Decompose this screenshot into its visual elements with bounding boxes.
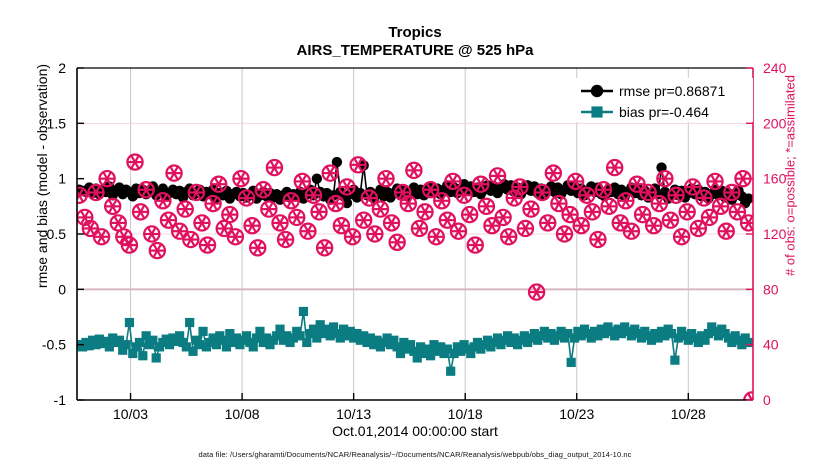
- y-tick-left: -1: [54, 392, 67, 408]
- plot-figure: Tropics AIRS_TEMPERATURE @ 525 hPa rmse …: [0, 0, 830, 470]
- x-tick: 10/03: [113, 406, 148, 422]
- legend-marker-square: [591, 106, 602, 117]
- x-tick: 10/28: [671, 406, 706, 422]
- y-tick-left: 1: [58, 171, 66, 187]
- plot-canvas: -1-0.500.511.520408012016020024010/0310/…: [0, 0, 830, 470]
- x-tick: 10/13: [336, 406, 371, 422]
- legend-label: rmse pr=0.86871: [619, 83, 725, 99]
- y-tick-right: 160: [763, 171, 787, 187]
- y-tick-right: 0: [763, 392, 771, 408]
- y-tick-right: 120: [763, 226, 787, 242]
- legend-marker-circle: [591, 85, 603, 97]
- y-tick-right: 200: [763, 115, 787, 131]
- series-1: [75, 307, 754, 376]
- y-tick-right: 240: [763, 60, 787, 76]
- legend-item-bias[interactable]: bias pr=-0.464: [581, 104, 709, 120]
- y-tick-left: 1.5: [47, 115, 67, 131]
- y-tick-left: -0.5: [42, 337, 66, 353]
- legend[interactable]: rmse pr=0.86871bias pr=-0.464: [575, 78, 753, 122]
- y-tick-right: 80: [763, 281, 779, 297]
- x-tick: 10/18: [448, 406, 483, 422]
- y-tick-left: 0: [58, 281, 66, 297]
- y-tick-right: 40: [763, 337, 779, 353]
- y-tick-left: 0.5: [47, 226, 67, 242]
- y-tick-left: 2: [58, 60, 66, 76]
- x-tick: 10/23: [559, 406, 594, 422]
- x-tick: 10/08: [225, 406, 260, 422]
- data-series-group: [72, 154, 760, 407]
- legend-label: bias pr=-0.464: [619, 104, 709, 120]
